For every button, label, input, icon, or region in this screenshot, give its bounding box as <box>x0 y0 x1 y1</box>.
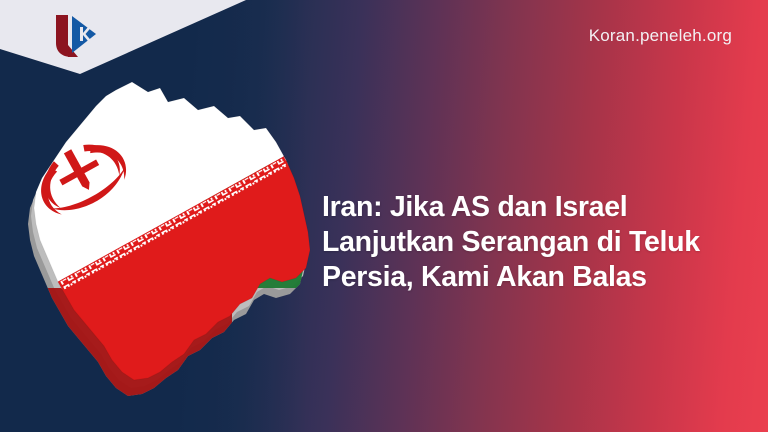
k-logo-icon <box>50 12 102 58</box>
iran-3d-flag-map <box>8 72 358 417</box>
site-url[interactable]: Koran.peneleh.org <box>589 26 732 46</box>
news-card: Koran.peneleh.org Iran: Jika AS dan Isra… <box>0 0 768 432</box>
koran-peneleh-logo[interactable] <box>50 12 102 58</box>
headline: Iran: Jika AS dan Israel Lanjutkan Seran… <box>322 190 742 294</box>
